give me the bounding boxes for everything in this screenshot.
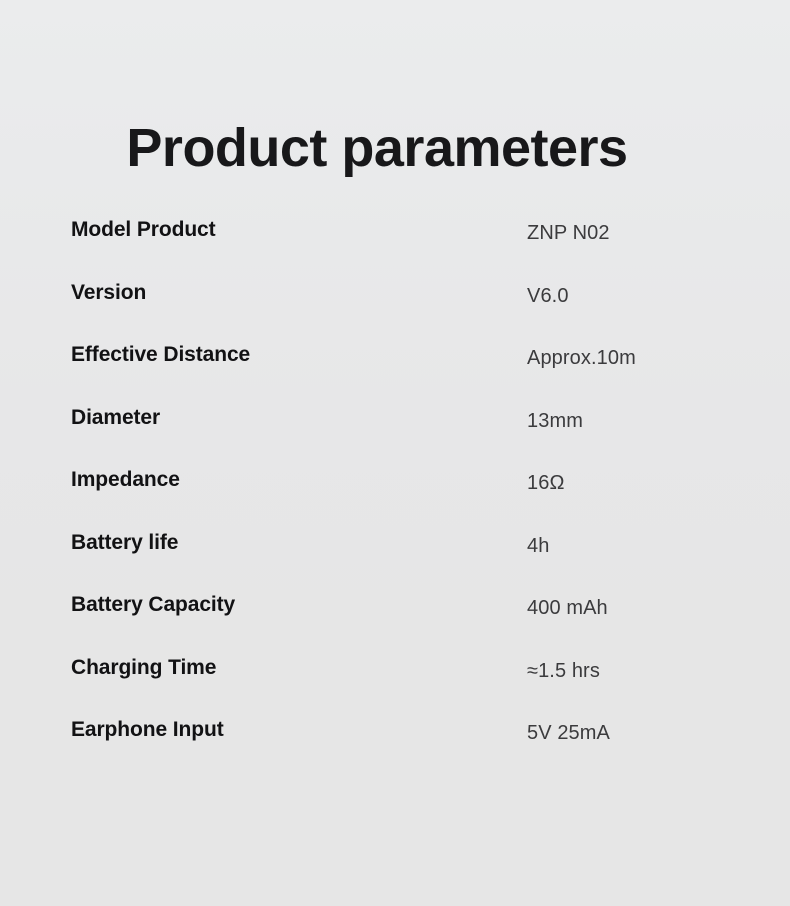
- spec-value-impedance: 16Ω: [527, 472, 565, 495]
- table-row: Battery Capacity 400 mAh: [0, 588, 790, 651]
- spec-value-battery-capacity: 400 mAh: [527, 597, 608, 620]
- table-row: Diameter 13mm: [0, 401, 790, 464]
- spec-value-earphone-input: 5V 25mA: [527, 722, 610, 745]
- specifications-table: Model Product ZNP N02 Version V6.0 Effec…: [0, 213, 790, 776]
- table-row: Battery life 4h: [0, 526, 790, 589]
- spec-value-effective-distance: Approx.10m: [527, 347, 636, 370]
- spec-label-battery-life: Battery life: [71, 531, 178, 555]
- spec-label-impedance: Impedance: [71, 468, 180, 492]
- table-row: Version V6.0: [0, 276, 790, 339]
- spec-value-diameter: 13mm: [527, 410, 583, 433]
- spec-value-charging-time: ≈1.5 hrs: [527, 660, 600, 683]
- table-row: Earphone Input 5V 25mA: [0, 713, 790, 776]
- spec-value-battery-life: 4h: [527, 535, 549, 558]
- spec-value-version: V6.0: [527, 285, 569, 308]
- product-parameters-page: Product parameters Model Product ZNP N02…: [0, 0, 790, 906]
- table-row: Effective Distance Approx.10m: [0, 338, 790, 401]
- spec-label-version: Version: [71, 281, 146, 305]
- spec-value-model-product: ZNP N02: [527, 222, 610, 245]
- page-title: Product parameters: [0, 119, 790, 178]
- table-row: Model Product ZNP N02: [0, 213, 790, 276]
- spec-label-effective-distance: Effective Distance: [71, 343, 250, 367]
- spec-label-battery-capacity: Battery Capacity: [71, 593, 235, 617]
- spec-label-diameter: Diameter: [71, 406, 160, 430]
- table-row: Impedance 16Ω: [0, 463, 790, 526]
- spec-label-earphone-input: Earphone Input: [71, 718, 224, 742]
- spec-label-charging-time: Charging Time: [71, 656, 216, 680]
- spec-label-model-product: Model Product: [71, 218, 216, 242]
- table-row: Charging Time ≈1.5 hrs: [0, 651, 790, 714]
